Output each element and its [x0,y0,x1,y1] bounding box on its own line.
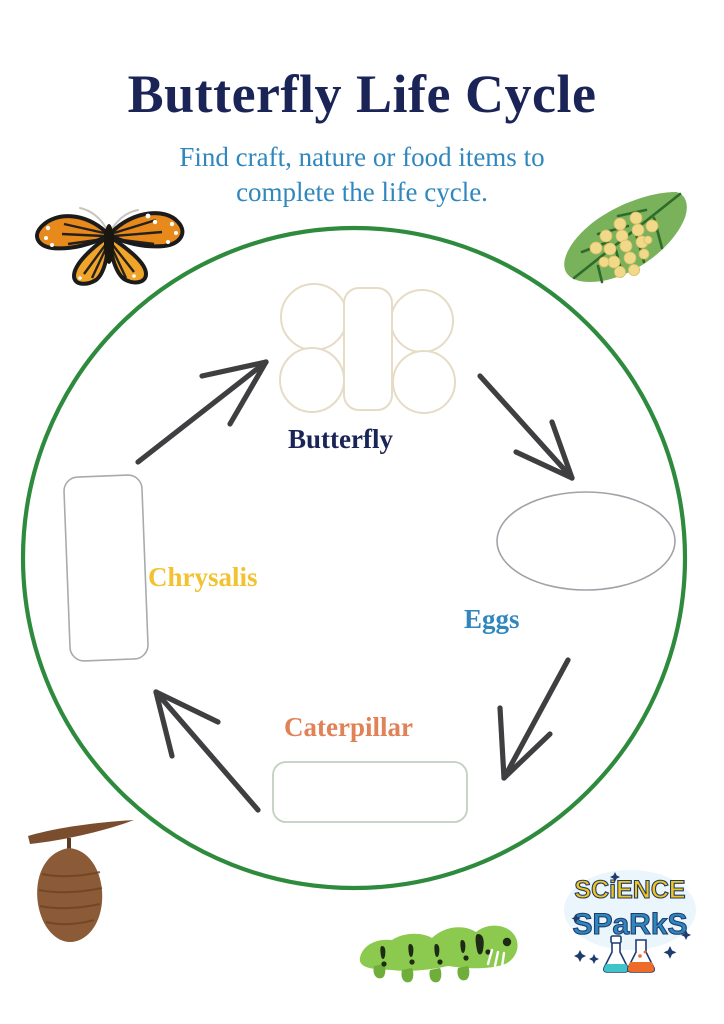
science-sparks-logo[interactable]: SCiENCE SPaRkS [560,858,700,974]
stage-label-chrysalis: Chrysalis [148,562,258,593]
eggs-placeholder[interactable] [494,489,678,593]
butterfly-placeholder[interactable] [268,276,468,420]
arrow-chrysalis-to-butterfly-icon [126,344,282,474]
caterpillar-placeholder[interactable] [268,757,472,827]
arrow-eggs-to-caterpillar-icon [464,652,592,792]
logo-line-1: SCiENCE [574,876,685,904]
logo-line-2: SPaRkS [572,908,687,941]
stage-label-butterfly: Butterfly [288,424,393,455]
stage-label-eggs: Eggs [464,604,520,635]
chrysalis-placeholder[interactable] [58,470,154,666]
stage-label-caterpillar: Caterpillar [284,712,413,743]
subtitle-line-1: Find craft, nature or food items to [179,142,544,172]
worksheet-page: Butterfly Life Cycle Find craft, nature … [0,0,724,1024]
leaf-with-eggs-image [548,186,700,294]
green-caterpillar-image [352,912,524,988]
arrow-caterpillar-to-chrysalis-icon [134,672,284,818]
monarch-butterfly-image [22,186,194,294]
arrow-butterfly-to-eggs-icon [466,360,608,494]
page-title: Butterfly Life Cycle [0,66,724,123]
chrysalis-on-branch-image [12,818,142,950]
